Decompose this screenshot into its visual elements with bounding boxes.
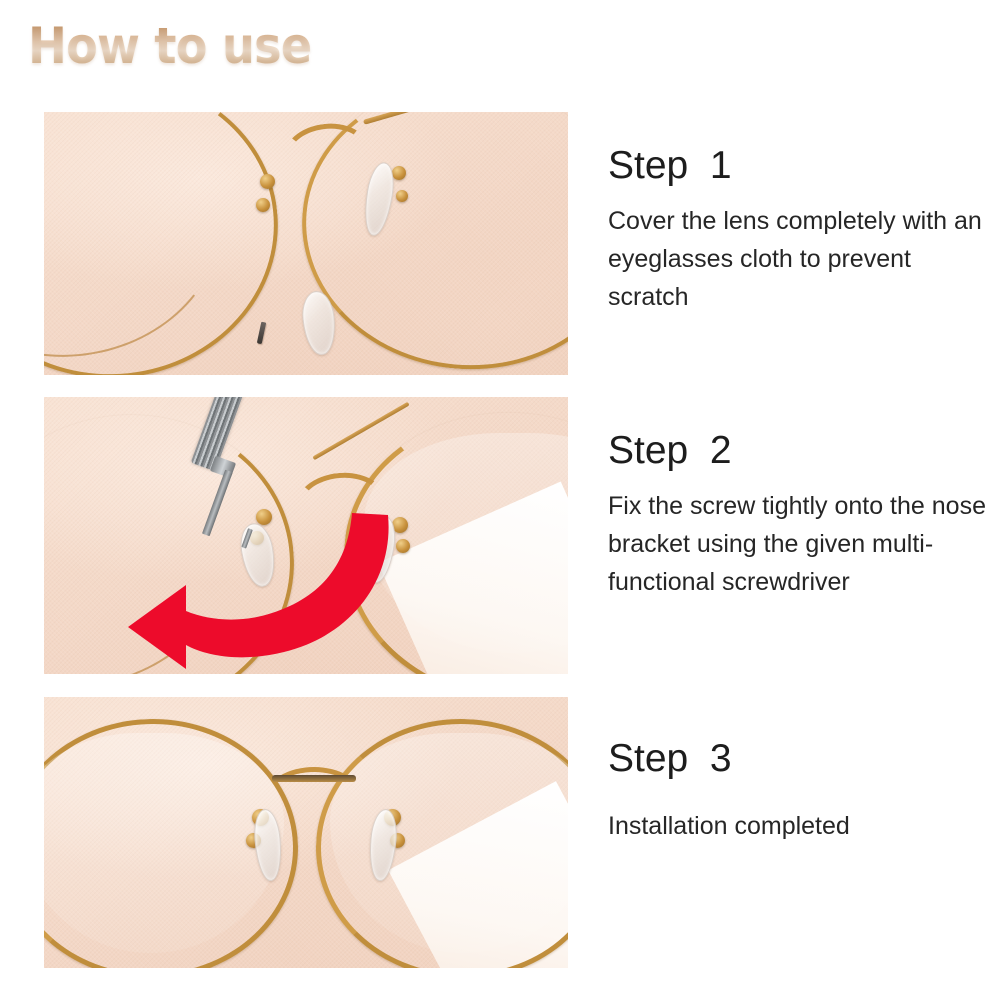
step-3-heading: Step 3 [608, 737, 988, 781]
step-3-text: Step 3 Installation completed [608, 737, 988, 845]
step-3-description: Installation completed [608, 807, 988, 845]
nose-pad-screw-right [396, 190, 408, 202]
rotation-arrow-icon [126, 507, 426, 674]
step-1-description: Cover the lens completely with an eyegla… [608, 202, 988, 316]
step-1-photo [44, 112, 568, 375]
step-2-photo [44, 397, 568, 674]
how-to-use-page: { "title": "How to use", "theme": { "pag… [0, 0, 1001, 1001]
bridge-bar [272, 775, 356, 782]
step-2-description: Fix the screw tightly onto the nose brac… [608, 487, 988, 601]
step-1-heading: Step 1 [608, 144, 988, 188]
nose-bracket-left [260, 174, 275, 189]
nose-bracket-left-screw [256, 198, 270, 212]
step-2-heading: Step 2 [608, 429, 988, 473]
step-1-text: Step 1 Cover the lens completely with an… [608, 144, 988, 316]
step-2-text: Step 2 Fix the screw tightly onto the no… [608, 429, 988, 601]
nose-pad-arm-right [392, 166, 406, 180]
step-3-photo [44, 697, 568, 968]
page-title: How to use [28, 18, 311, 74]
